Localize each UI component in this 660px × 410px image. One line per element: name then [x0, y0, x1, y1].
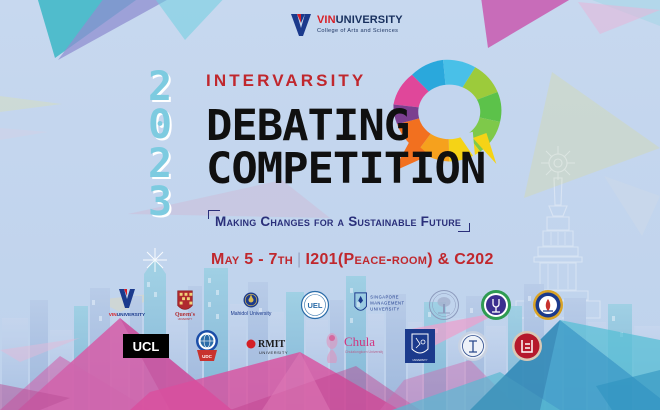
silver-seal-icon [457, 330, 489, 362]
vinuniversity-header-logo: VINUNIVERSITY College of Arts and Scienc… [290, 13, 403, 37]
svg-text:Chulalongkorn University: Chulalongkorn University [345, 350, 383, 354]
svg-text:SINGAPORE: SINGAPORE [370, 295, 399, 300]
svg-text:UNIVERSITY: UNIVERSITY [370, 306, 399, 311]
eyebrow-intervarsity: INTERVARSITY [206, 72, 480, 89]
logo-uel: UEL [300, 290, 330, 320]
logo-tree-seal-university [428, 289, 460, 321]
logo-globe-crest-university: UDC [191, 328, 223, 364]
circular-seal-icon: Mahidol University [222, 289, 280, 321]
vin-chevron-icon [290, 13, 312, 37]
vin-chevron-icon: VINUNIVERSITY [106, 288, 148, 322]
logo-rmit-university: RMIT UNIVERSITY [245, 333, 299, 359]
circular-badge-icon: UEL [300, 290, 330, 320]
year-digit-3: 2 [148, 145, 172, 183]
rmit-dot-icon: RMIT UNIVERSITY [245, 333, 299, 359]
event-details: May 5 - 7th|I201(Peace-room) & C202 [211, 251, 494, 269]
year-digit-2: 0 [148, 106, 172, 144]
smu-mark-icon: SINGAPORE MANAGEMENT UNIVERSITY [350, 290, 408, 320]
title-block: INTERVARSITY DEBATING COMPETITION [206, 72, 480, 190]
green-ring-seal-icon [480, 289, 512, 321]
title-line-debating: DEBATING [206, 106, 485, 146]
sponsor-row-2: UCL UDC RMI [0, 326, 660, 366]
logo-vinuniversity: VINUNIVERSITY [106, 288, 148, 322]
logo-ucl: UCL [123, 334, 169, 358]
logo-mahidol-university: Mahidol University [222, 289, 280, 321]
logo-singapore-management-university: SINGAPORE MANAGEMENT UNIVERSITY [350, 290, 408, 320]
gold-ring-seal-icon [532, 289, 564, 321]
red-circle-mark-icon [511, 330, 543, 362]
logo-gold-ring-university [532, 289, 564, 321]
vinuniversity-wordmark: VINUNIVERSITY College of Arts and Scienc… [317, 15, 403, 34]
logo-red-circle-university [511, 330, 543, 362]
svg-text:VINUNIVERSITY: VINUNIVERSITY [109, 312, 146, 318]
sponsor-row-1: VINUNIVERSITY Queen's UNIVERSITY [0, 286, 660, 324]
svg-text:MANAGEMENT: MANAGEMENT [370, 301, 404, 306]
crest-shield-icon: Queen's UNIVERSITY [168, 288, 202, 322]
chula-emblem-icon: Chula Chulalongkorn University [321, 328, 383, 364]
svg-text:UNIVERSITY: UNIVERSITY [412, 359, 427, 362]
year-2023: 2 0 2 3 [148, 68, 172, 222]
tree-seal-icon [428, 289, 460, 321]
svg-text:Chula: Chula [344, 334, 375, 349]
brand-subtitle: College of Arts and Sciences [317, 29, 403, 35]
year-digit-4: 3 [148, 183, 172, 221]
logo-silver-seal-university [457, 330, 489, 362]
globe-crest-icon: UDC [191, 328, 223, 364]
brand-university: UNIVERSITY [336, 14, 403, 26]
event-dates: May 5 - 7th [211, 251, 293, 268]
year-digit-1: 2 [148, 68, 172, 106]
svg-text:UNIVERSITY: UNIVERSITY [178, 318, 193, 321]
ucl-wordmark-icon: UCL [123, 334, 169, 358]
brand-vin: VIN [317, 14, 336, 26]
svg-text:UDC: UDC [202, 354, 212, 359]
blue-shield-icon: UNIVERSITY [405, 329, 435, 363]
sponsor-logos: VINUNIVERSITY Queen's UNIVERSITY [0, 286, 660, 366]
logo-chulalongkorn-university: Chula Chulalongkorn University [321, 328, 383, 364]
logo-queens-university: Queen's UNIVERSITY [168, 288, 202, 322]
event-venue: I201(Peace-room) & C202 [306, 251, 494, 268]
tagline-bracket-frame: Making Changes for a Sustainable Future [208, 210, 470, 232]
logo-green-ring-university [480, 289, 512, 321]
svg-text:Queen's: Queen's [175, 312, 196, 318]
title-line-competition: COMPETITION [206, 149, 485, 189]
svg-text:UNIVERSITY: UNIVERSITY [259, 350, 288, 355]
svg-text:UEL: UEL [308, 301, 323, 310]
tagline-text: Making Changes for a Sustainable Future [215, 214, 461, 229]
logo-blue-shield-university: UNIVERSITY [405, 329, 435, 363]
event-separator: | [293, 251, 305, 268]
svg-text:UCL: UCL [133, 339, 160, 354]
svg-text:Mahidol University: Mahidol University [231, 311, 272, 317]
poster-canvas: VINUNIVERSITY College of Arts and Scienc… [0, 0, 660, 410]
svg-text:RMIT: RMIT [258, 339, 286, 350]
